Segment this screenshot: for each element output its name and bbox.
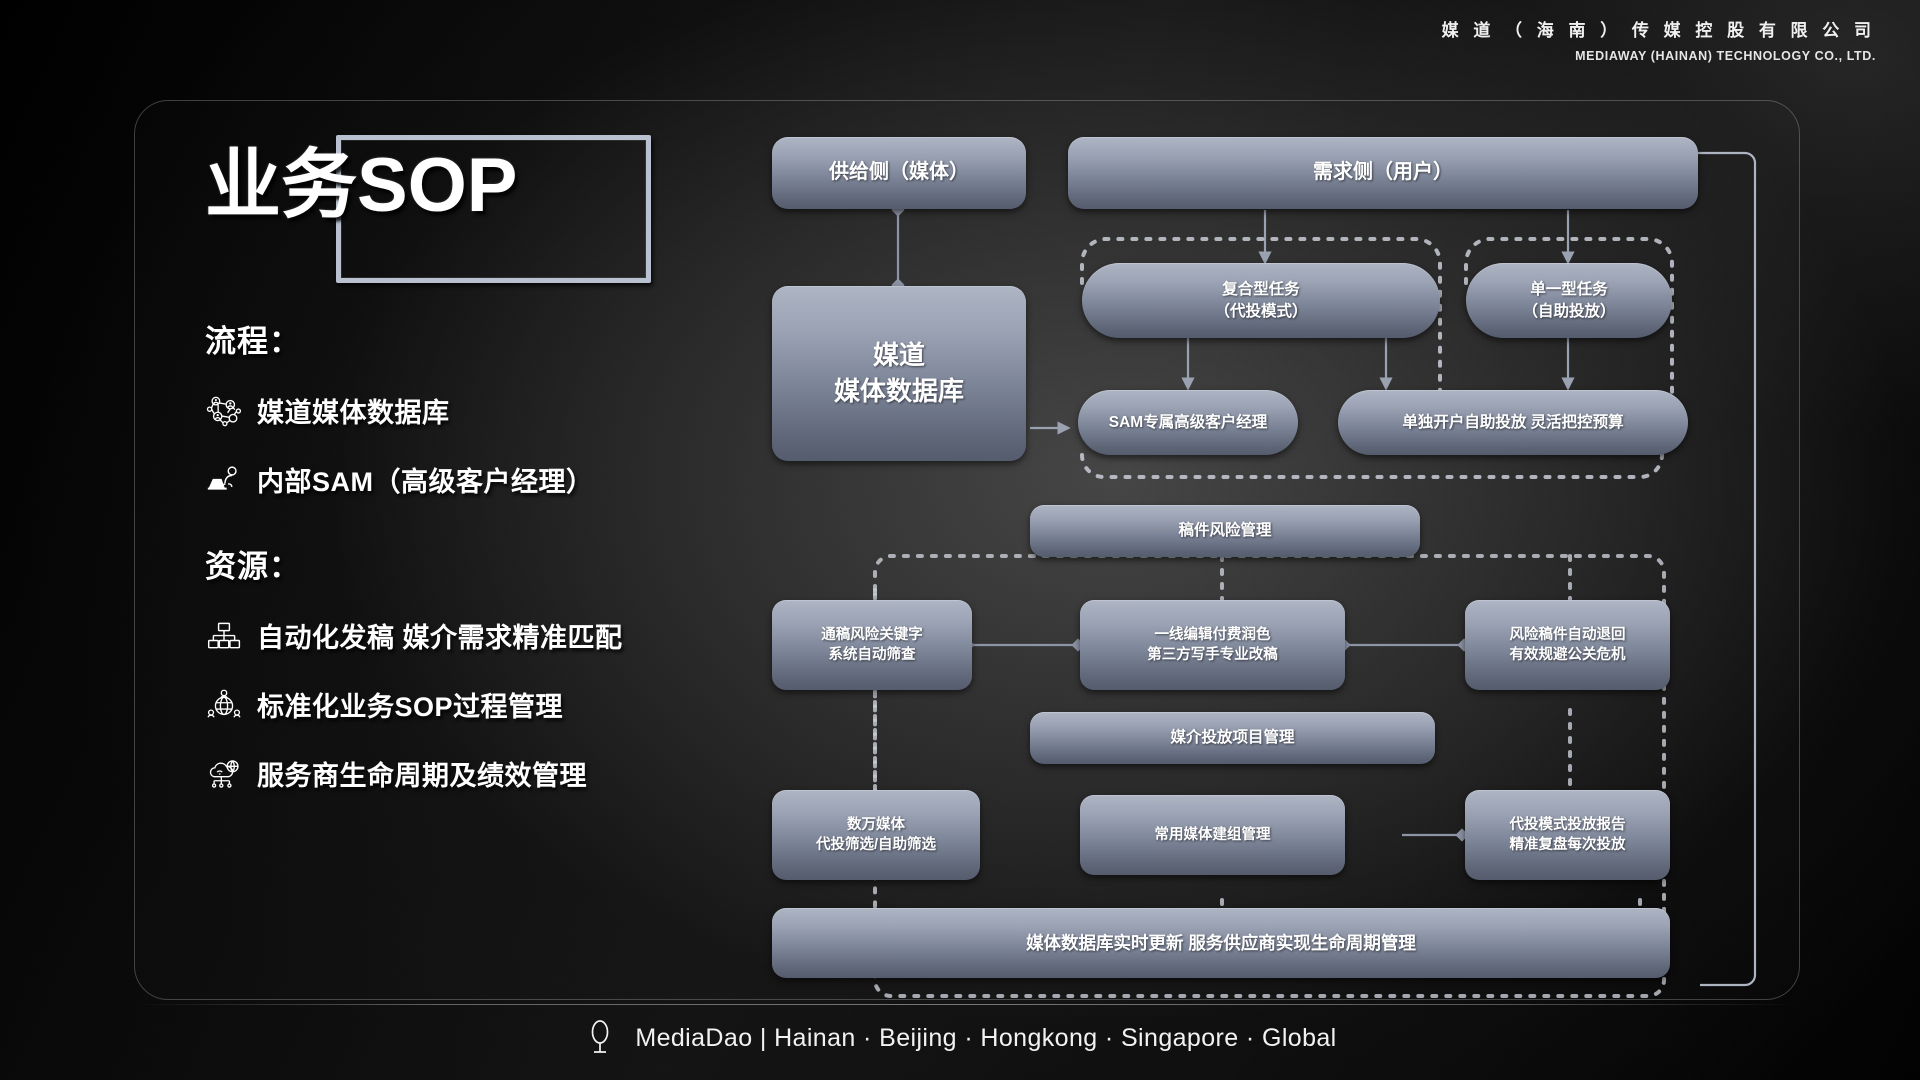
list-item-label: 标准化业务SOP过程管理 (257, 685, 563, 724)
brand-name-en: MEDIAWAY (HAINAN) TECHNOLOGY CO., LTD. (1442, 46, 1876, 66)
microphone-icon (583, 1018, 617, 1058)
node-self-serve[interactable]: 单独开户自助投放 灵活把控预算 (1338, 390, 1688, 455)
process-heading: 流程： (205, 316, 765, 361)
footer-divider (134, 1004, 1800, 1005)
org-chart-icon (205, 617, 243, 655)
node-single-task-line2: （自助投放） (1522, 301, 1615, 322)
node-delivery-report-line1: 代投模式投放报告 (1510, 815, 1626, 835)
list-item-label: 服务商生命周期及绩效管理 (257, 754, 587, 793)
page-title-block: 业务SOP (205, 120, 765, 310)
footer: MediaDao | Hainan · Beijing · Hongkong ·… (0, 1018, 1920, 1058)
node-media-count-line2: 代投筛选/自助筛选 (816, 835, 936, 855)
network-people-icon (205, 392, 243, 430)
node-auto-return[interactable]: 风险稿件自动退回 有效规避公关危机 (1465, 600, 1670, 690)
list-item-auto-publish: 自动化发稿 媒介需求精准匹配 (205, 616, 765, 655)
left-panel: 业务SOP 流程： 媒道媒体数据库 (205, 120, 765, 793)
node-composite-task-line2: （代投模式） (1214, 301, 1307, 322)
list-item-label: 媒道媒体数据库 (257, 391, 450, 430)
node-keyword-filter[interactable]: 通稿风险关键字 系统自动筛查 (772, 600, 972, 690)
node-editor-polish[interactable]: 一线编辑付费润色 第三方写手专业改稿 (1080, 600, 1345, 690)
node-editor-polish-line2: 第三方写手专业改稿 (1147, 645, 1278, 665)
node-delivery-report[interactable]: 代投模式投放报告 精准复盘每次投放 (1465, 790, 1670, 880)
globe-people-icon (205, 686, 243, 724)
node-media-database[interactable]: 媒道 媒体数据库 (772, 286, 1026, 461)
node-auto-return-line1: 风险稿件自动退回 (1510, 625, 1626, 645)
node-editor-polish-line1: 一线编辑付费润色 (1155, 625, 1271, 645)
node-delivery-report-line2: 精准复盘每次投放 (1510, 835, 1626, 855)
node-draft-risk[interactable]: 稿件风险管理 (1030, 505, 1420, 557)
list-item-label: 内部SAM（高级客户经理） (257, 460, 594, 499)
list-item-label: 自动化发稿 媒介需求精准匹配 (257, 616, 623, 655)
list-item-lifecycle: 服务商生命周期及绩效管理 (205, 754, 765, 793)
node-composite-task[interactable]: 复合型任务 （代投模式） (1082, 263, 1440, 338)
node-sam-manager[interactable]: SAM专属高级客户经理 (1078, 390, 1298, 455)
node-media-database-line2: 媒体数据库 (834, 374, 964, 410)
slide-root: 媒 道 （ 海 南 ） 传 媒 控 股 有 限 公 司 MEDIAWAY (HA… (0, 0, 1920, 1080)
list-item-standard-sop: 标准化业务SOP过程管理 (205, 685, 765, 724)
node-bottom-summary[interactable]: 媒体数据库实时更新 服务供应商实现生命周期管理 (772, 908, 1670, 978)
brand-header: 媒 道 （ 海 南 ） 传 媒 控 股 有 限 公 司 MEDIAWAY (HA… (1442, 18, 1876, 66)
person-laptop-icon (205, 461, 243, 499)
node-media-group[interactable]: 常用媒体建组管理 (1080, 795, 1345, 875)
node-composite-task-line1: 复合型任务 (1222, 279, 1300, 300)
footer-text: MediaDao | Hainan · Beijing · Hongkong ·… (635, 1024, 1336, 1053)
node-project-management[interactable]: 媒介投放项目管理 (1030, 712, 1435, 764)
list-item-internal-sam: 内部SAM（高级客户经理） (205, 460, 765, 499)
node-media-database-line1: 媒道 (873, 338, 925, 374)
node-auto-return-line2: 有效规避公关危机 (1510, 645, 1626, 665)
node-supply-side[interactable]: 供给侧（媒体） (772, 137, 1026, 209)
node-single-task[interactable]: 单一型任务 （自助投放） (1466, 263, 1672, 338)
node-keyword-filter-line2: 系统自动筛查 (829, 645, 916, 665)
node-media-count-line1: 数万媒体 (847, 815, 905, 835)
resource-heading: 资源： (205, 541, 765, 586)
page-title: 业务SOP (205, 148, 518, 224)
node-demand-side[interactable]: 需求侧（用户） (1068, 137, 1698, 209)
node-media-count[interactable]: 数万媒体 代投筛选/自助筛选 (772, 790, 980, 880)
brand-name-cn: 媒 道 （ 海 南 ） 传 媒 控 股 有 限 公 司 (1442, 18, 1876, 44)
node-single-task-line1: 单一型任务 (1530, 279, 1608, 300)
node-keyword-filter-line1: 通稿风险关键字 (821, 625, 923, 645)
list-item-media-db: 媒道媒体数据库 (205, 391, 765, 430)
cloud-network-icon (205, 755, 243, 793)
